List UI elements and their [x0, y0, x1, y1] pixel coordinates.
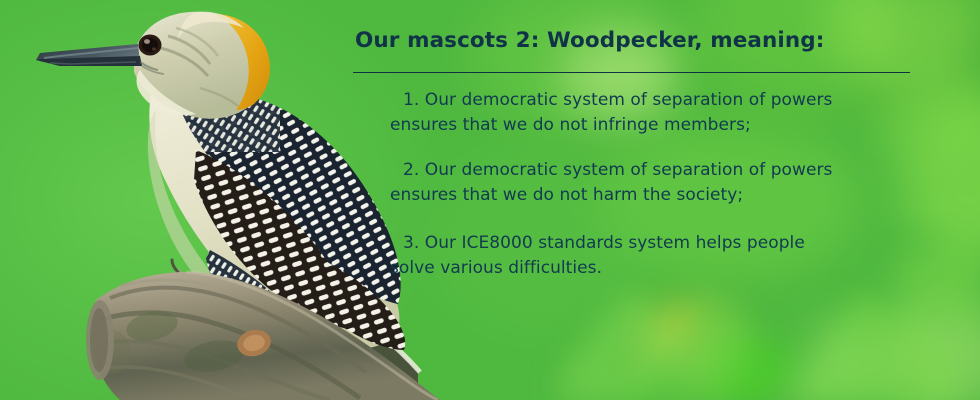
meaning-item-2: 2. Our democratic system of separation o… [403, 158, 923, 208]
meaning-item-1: 1. Our democratic system of separation o… [403, 88, 923, 138]
meaning-item-1-line-2: ensures that we do not infringe members; [390, 113, 923, 138]
meaning-item-3: 3. Our ICE8000 standards system helps pe… [403, 231, 923, 281]
title-divider [353, 72, 910, 73]
page-title: Our mascots 2: Woodpecker, meaning: [355, 28, 824, 53]
meaning-item-3-line-2: solve various difficulties. [390, 256, 923, 281]
meaning-item-2-line-2: ensures that we do not harm the society; [390, 183, 923, 208]
text-block: Our mascots 2: Woodpecker, meaning: 1. O… [353, 0, 923, 400]
woodpecker-head [36, 12, 270, 119]
meaning-item-2-line-1: 2. Our democratic system of separation o… [403, 158, 923, 183]
meaning-item-1-line-1: 1. Our democratic system of separation o… [403, 88, 923, 113]
mascot-banner: Our mascots 2: Woodpecker, meaning: 1. O… [0, 0, 980, 400]
meaning-item-3-line-1: 3. Our ICE8000 standards system helps pe… [403, 231, 923, 256]
